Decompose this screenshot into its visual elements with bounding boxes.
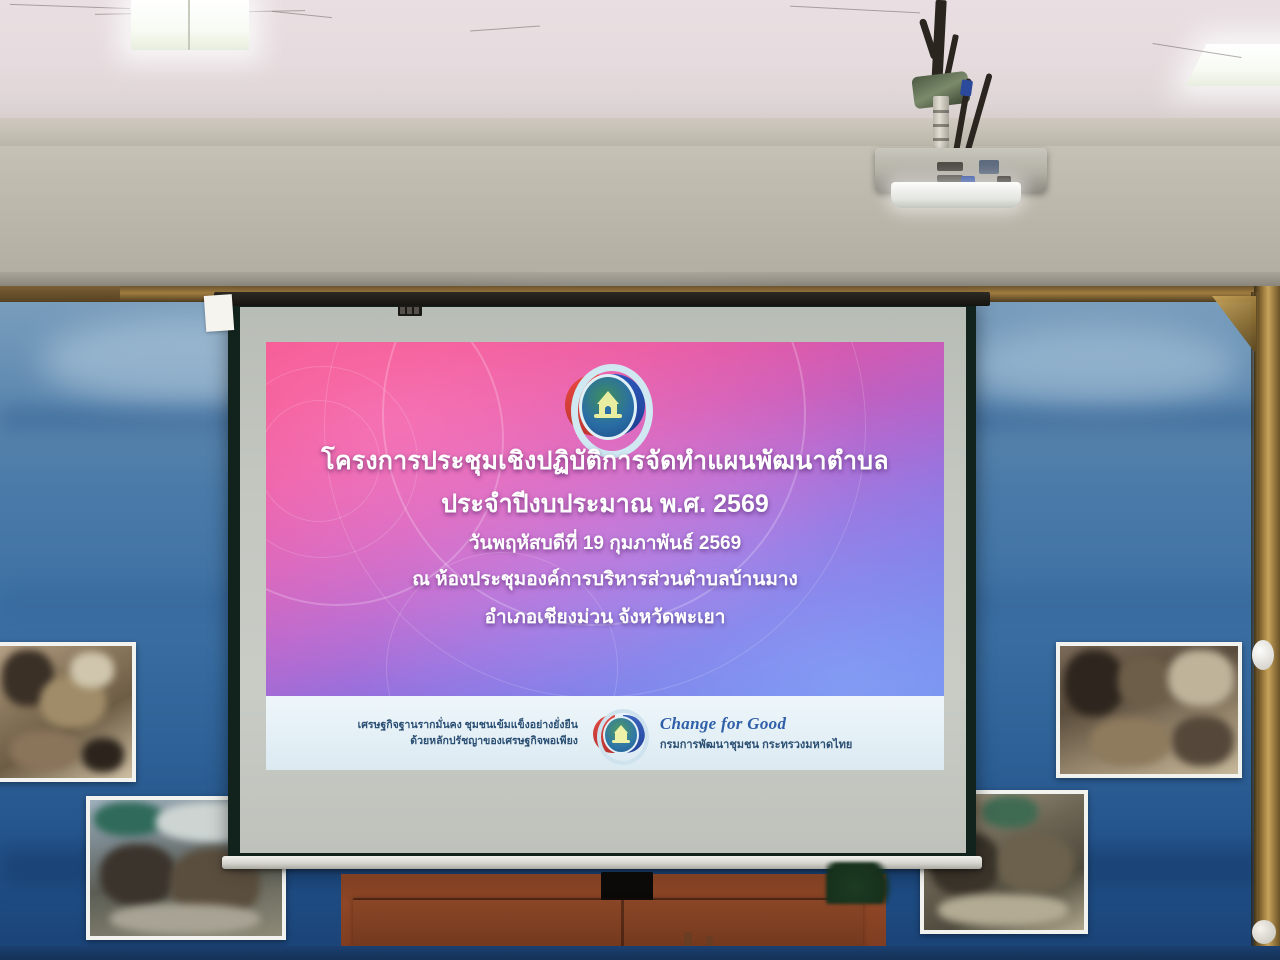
photo-weaving-loom-right bbox=[1056, 642, 1242, 778]
wall-fixture-knob-lower bbox=[1252, 920, 1276, 944]
potted-plant-silhouette bbox=[826, 862, 898, 904]
slide-footer-banner: เศรษฐกิจฐานรากมั่นคง ชุมชนเข้มแข็งอย่างย… bbox=[266, 696, 944, 770]
slogan-line2: ด้วยหลักปรัชญาของเศรษฐกิจพอเพียง bbox=[358, 733, 578, 749]
ceiling-crack bbox=[10, 4, 130, 9]
vga-connector bbox=[960, 79, 973, 96]
pavilion-icon-small bbox=[611, 725, 631, 745]
ceiling-light-panel bbox=[131, 0, 249, 50]
brand-tagline-en: Change for Good bbox=[660, 714, 852, 734]
cdd-department-emblem bbox=[563, 358, 647, 450]
mural-frame-right-inner bbox=[1251, 292, 1258, 952]
room-scene: โครงการประชุมเชิงปฏิบัติการจัดทำแผนพัฒนา… bbox=[0, 0, 1280, 960]
slide-footer-slogan: เศรษฐกิจฐานรากมั่นคง ชุมชนเข้มแข็งอย่างย… bbox=[358, 717, 578, 750]
ceiling bbox=[0, 0, 1280, 132]
projector-lens bbox=[891, 182, 1021, 208]
ceiling-crack bbox=[272, 11, 332, 18]
screen-top-rail bbox=[214, 292, 990, 306]
floor-strip bbox=[0, 946, 1280, 960]
slide-footer-brand: Change for Good กรมการพัฒนาชุมชน กระทรวง… bbox=[660, 714, 852, 753]
screen-paper-tag bbox=[204, 294, 234, 332]
ceiling-crack bbox=[470, 26, 540, 32]
slide-detail-date: วันพฤหัสบดีที่ 19 กุมภาพันธ์ 2569 bbox=[266, 528, 944, 558]
slide-title-line1: โครงการประชุมเชิงปฏิบัติการจัดทำแผนพัฒนา… bbox=[266, 446, 944, 477]
presentation-slide: โครงการประชุมเชิงปฏิบัติการจัดทำแผนพัฒนา… bbox=[266, 342, 944, 770]
upper-wall bbox=[0, 146, 1280, 286]
mural-frame-left bbox=[0, 286, 120, 300]
cdd-change-for-good-logo bbox=[592, 706, 646, 760]
stage-edge-seam bbox=[353, 898, 863, 900]
slogan-line1: เศรษฐกิจฐานรากมั่นคง ชุมชนเข้มแข็งอย่างย… bbox=[358, 717, 578, 733]
slide-detail-district: อำเภอเชียงม่วน จังหวัดพะเยา bbox=[266, 602, 944, 632]
photo-basket-weaving-left bbox=[0, 642, 136, 782]
brand-name-th: กรมการพัฒนาชุมชน กระทรวงมหาดไทย bbox=[660, 735, 852, 753]
wall-fixture-knob bbox=[1252, 640, 1274, 670]
slide-title-line2: ประจำปีงบประมาณ พ.ศ. 2569 bbox=[266, 484, 944, 524]
screen-clip bbox=[398, 305, 422, 316]
pavilion-icon bbox=[591, 390, 625, 424]
slide-detail-venue: ณ ห้องประชุมองค์การบริหารส่วนตำบลบ้านมาง bbox=[266, 564, 944, 594]
projector-assembly bbox=[875, 0, 1055, 210]
